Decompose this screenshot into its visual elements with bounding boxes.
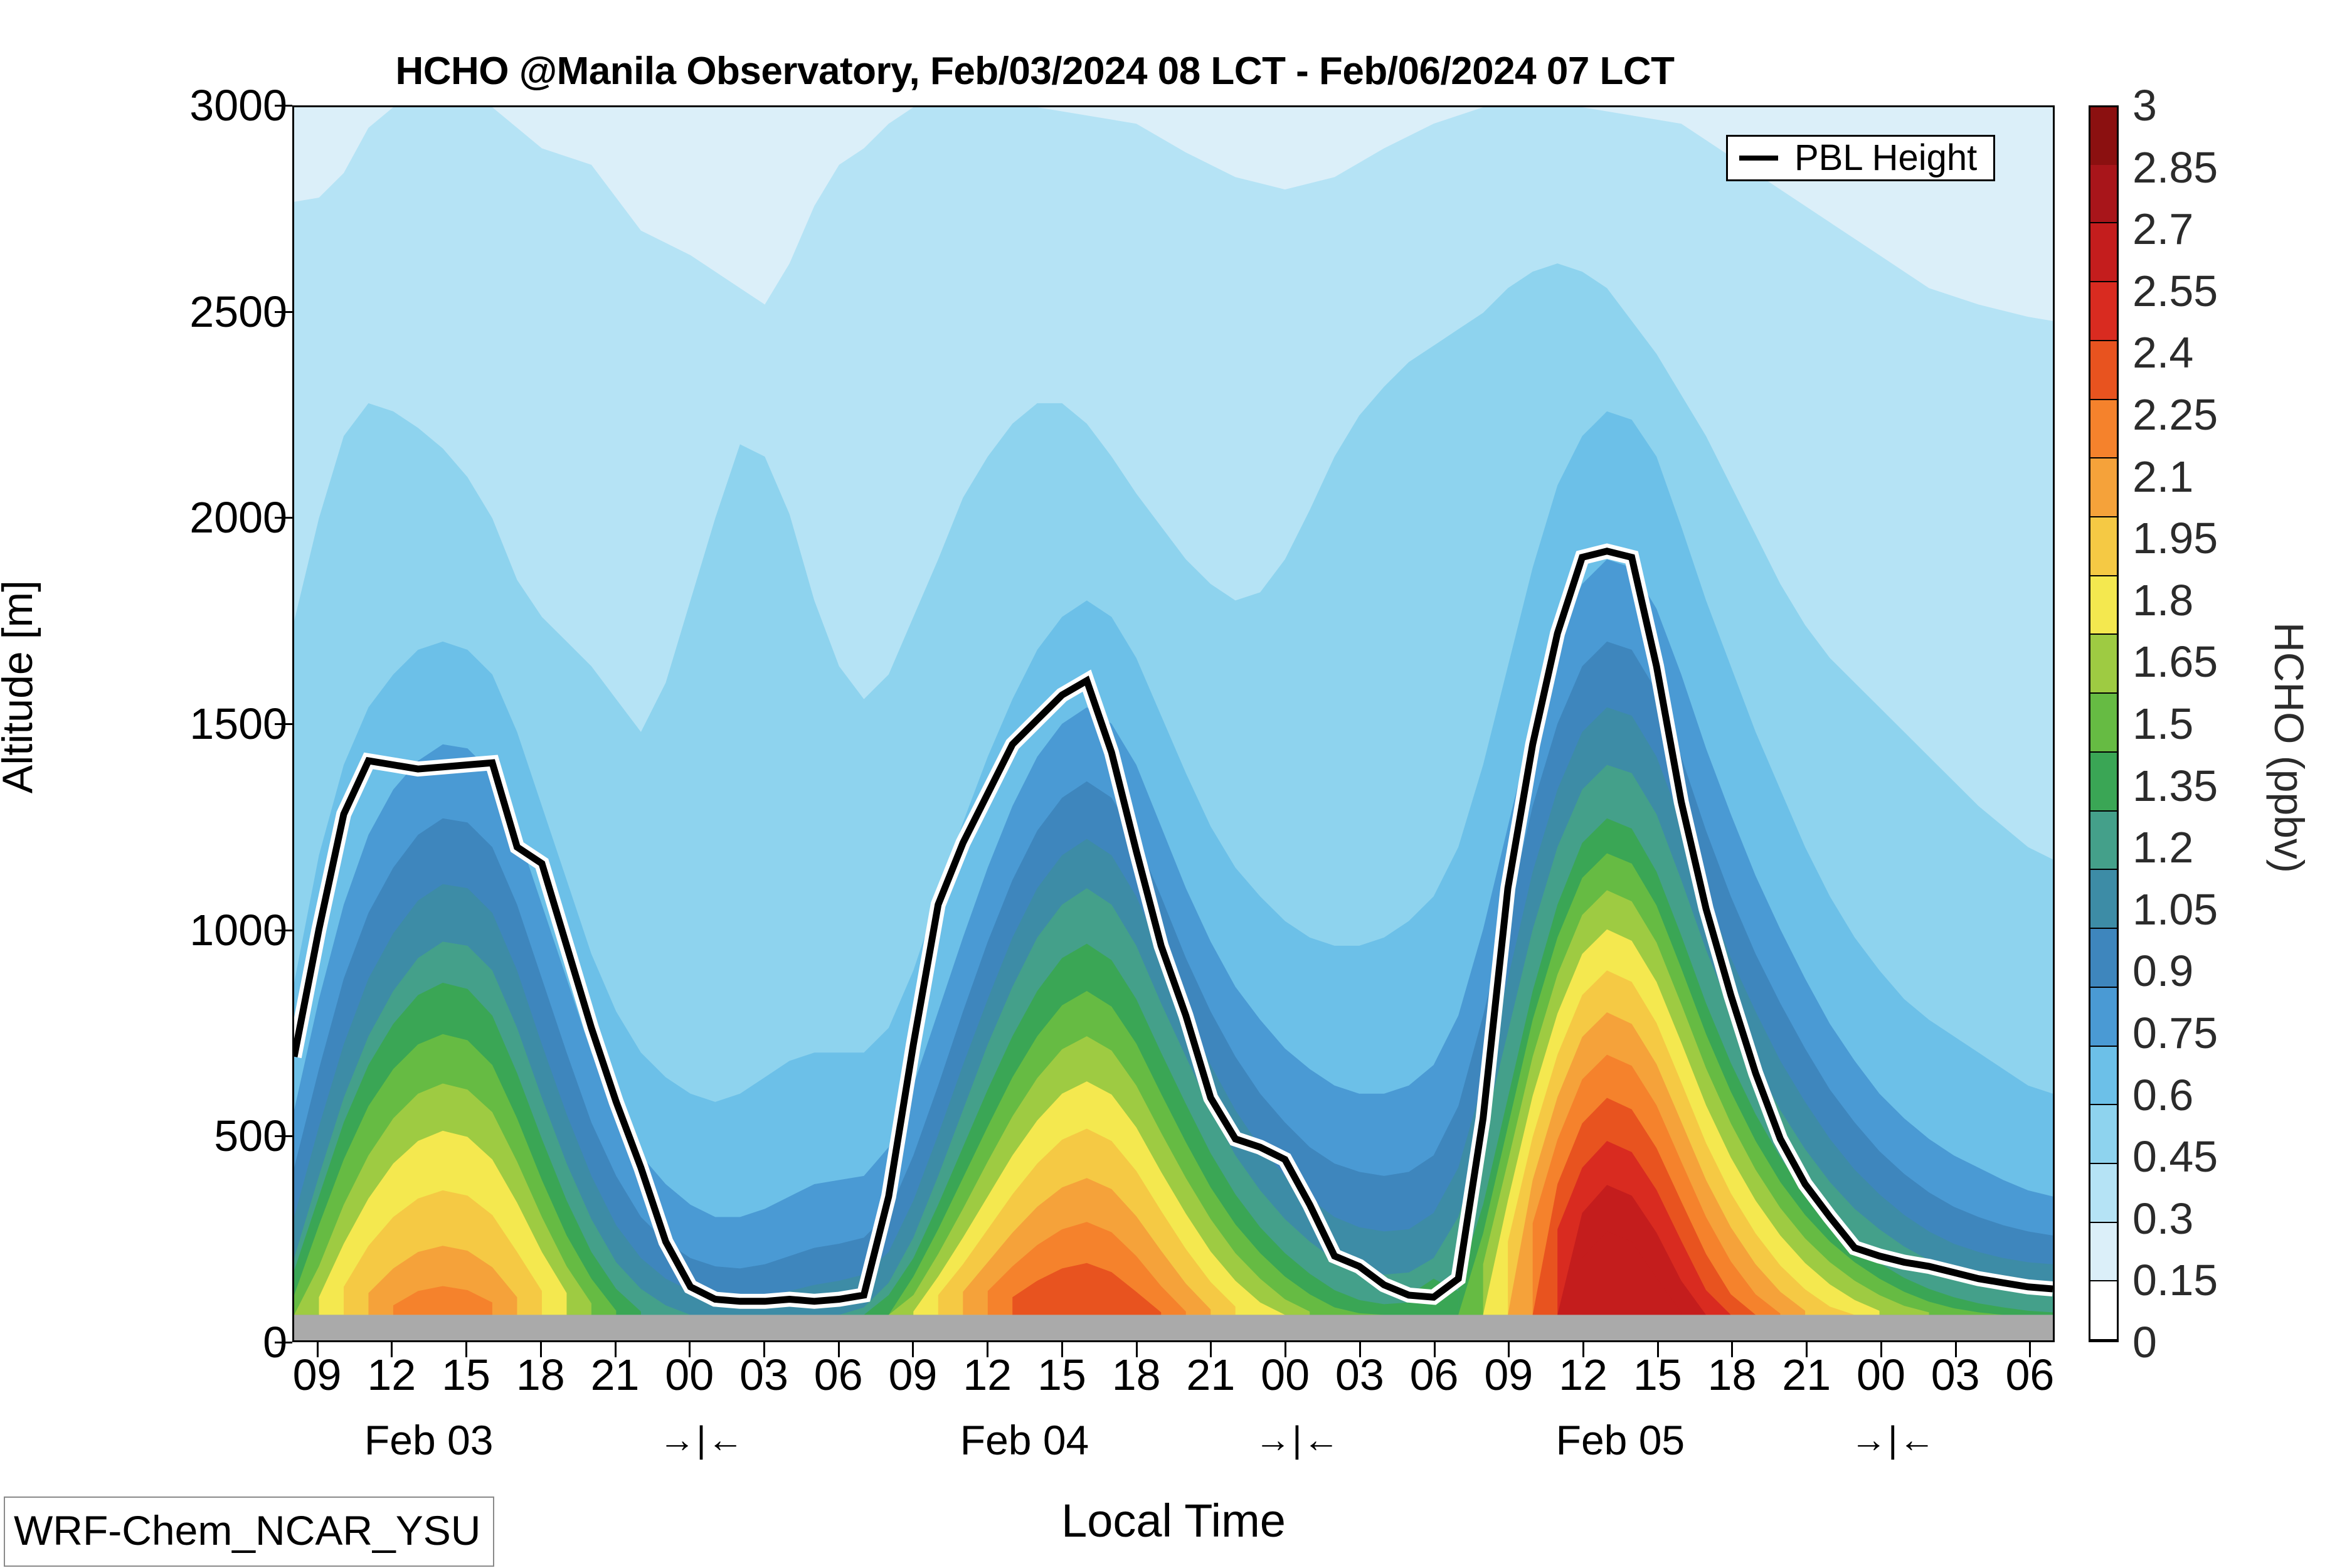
colorbar-cell xyxy=(2090,635,2117,694)
x-tick-label: 18 xyxy=(1708,1350,1757,1400)
x-tick-label: 06 xyxy=(1410,1350,1459,1400)
colorbar-cell xyxy=(2090,1105,2117,1164)
x-tick-mark xyxy=(1285,1342,1286,1357)
legend-line-swatch xyxy=(1739,156,1778,161)
terrain-surface xyxy=(294,1315,2053,1340)
colorbar-tick-label: 1.05 xyxy=(2132,884,2218,935)
x-tick-label: 03 xyxy=(1931,1350,1980,1400)
y-tick-label: 500 xyxy=(24,1111,287,1161)
x-tick-label: 03 xyxy=(1335,1350,1384,1400)
x-day-label: Feb 04 xyxy=(960,1416,1089,1464)
x-tick-label: 21 xyxy=(1782,1350,1831,1400)
colorbar-cell xyxy=(2090,400,2117,459)
x-day-separator: →|← xyxy=(659,1419,744,1461)
x-tick-label: 00 xyxy=(1261,1350,1310,1400)
colorbar-cell xyxy=(2090,812,2117,871)
colorbar-cell xyxy=(2090,223,2117,282)
x-tick-mark xyxy=(987,1342,988,1357)
x-tick-label: 00 xyxy=(1857,1350,1905,1400)
x-day-label: Feb 05 xyxy=(1556,1416,1685,1464)
x-tick-mark xyxy=(763,1342,765,1357)
colorbar-tick-label: 3 xyxy=(2132,80,2157,130)
colorbar-cell xyxy=(2090,1047,2117,1106)
x-tick-label: 09 xyxy=(1484,1350,1533,1400)
legend-item-label: PBL Height xyxy=(1794,140,1977,176)
y-tick-mark xyxy=(275,723,292,725)
colorbar-tick-label: 0.9 xyxy=(2132,946,2193,996)
x-tick-label: 03 xyxy=(739,1350,788,1400)
x-tick-label: 15 xyxy=(1633,1350,1682,1400)
colorbar-tick-label: 1.65 xyxy=(2132,637,2218,687)
x-tick-mark xyxy=(1210,1342,1212,1357)
colorbar-tick-label: 2.25 xyxy=(2132,389,2218,440)
colorbar-tick-label: 0.75 xyxy=(2132,1008,2218,1058)
x-tick-mark xyxy=(1582,1342,1584,1357)
colorbar-tick-label: 0.45 xyxy=(2132,1131,2218,1182)
colorbar-cell xyxy=(2090,458,2117,517)
x-day-label: Feb 03 xyxy=(364,1416,493,1464)
x-tick-label: 15 xyxy=(442,1350,490,1400)
y-tick-mark xyxy=(275,1342,292,1343)
y-tick-mark xyxy=(275,1135,292,1137)
colorbar-tick-label: 2.55 xyxy=(2132,266,2218,316)
x-tick-mark xyxy=(391,1342,393,1357)
colorbar-cell xyxy=(2090,107,2117,165)
y-tick-mark xyxy=(275,930,292,931)
colorbar-tick-label: 1.2 xyxy=(2132,822,2193,872)
x-axis-label: Local Time xyxy=(292,1494,2055,1547)
y-tick-mark xyxy=(275,517,292,519)
colorbar-cell xyxy=(2090,1223,2117,1282)
colorbar-tick-label: 1.95 xyxy=(2132,513,2218,563)
x-tick-label: 21 xyxy=(591,1350,640,1400)
y-tick-mark xyxy=(275,311,292,313)
colorbar-tick-label: 1.35 xyxy=(2132,761,2218,811)
colorbar-tick-label: 0 xyxy=(2132,1317,2157,1367)
y-tick-label: 2500 xyxy=(24,287,287,337)
y-tick-label: 1000 xyxy=(24,905,287,955)
colorbar-cell xyxy=(2090,1281,2117,1340)
model-tag: WRF-Chem_NCAR_YSU xyxy=(4,1496,494,1567)
x-tick-label: 15 xyxy=(1037,1350,1086,1400)
x-day-separator: →|← xyxy=(1850,1419,1936,1461)
y-tick-label: 1500 xyxy=(24,699,287,749)
x-tick-label: 12 xyxy=(367,1350,416,1400)
colorbar-tick-label: 2.4 xyxy=(2132,327,2193,378)
x-tick-mark xyxy=(1806,1342,1808,1357)
x-tick-label: 18 xyxy=(1112,1350,1161,1400)
colorbar-tick-label: 2.85 xyxy=(2132,142,2218,193)
colorbar-tick-label: 1.5 xyxy=(2132,699,2193,749)
x-tick-mark xyxy=(1731,1342,1733,1357)
x-tick-label: 09 xyxy=(293,1350,342,1400)
colorbar-cell xyxy=(2090,694,2117,753)
x-tick-mark xyxy=(465,1342,467,1357)
x-tick-mark xyxy=(1061,1342,1063,1357)
x-tick-mark xyxy=(689,1342,691,1357)
colorbar-cell xyxy=(2090,165,2117,224)
colorbar-tick-label: 0.6 xyxy=(2132,1070,2193,1120)
colorbar-tick-label: 0.3 xyxy=(2132,1194,2193,1244)
colorbar-cell xyxy=(2090,341,2117,400)
x-tick-label: 18 xyxy=(516,1350,565,1400)
y-tick-label: 2000 xyxy=(24,492,287,543)
colorbar-cell xyxy=(2090,1164,2117,1223)
x-tick-label: 06 xyxy=(814,1350,863,1400)
colorbar-cell xyxy=(2090,988,2117,1047)
x-tick-mark xyxy=(838,1342,840,1357)
colorbar-cell xyxy=(2090,517,2117,576)
contour-field xyxy=(294,107,2053,1340)
x-tick-mark xyxy=(317,1342,319,1357)
x-tick-label: 21 xyxy=(1186,1350,1235,1400)
x-tick-mark xyxy=(1434,1342,1436,1357)
colorbar-cell xyxy=(2090,929,2117,988)
legend[interactable]: PBL Height xyxy=(1726,135,1995,181)
x-tick-mark xyxy=(1955,1342,1957,1357)
colorbar-cell xyxy=(2090,870,2117,929)
x-tick-label: 12 xyxy=(963,1350,1012,1400)
colorbar-cell xyxy=(2090,576,2117,635)
x-tick-mark xyxy=(615,1342,617,1357)
colorbar[interactable] xyxy=(2089,105,2119,1342)
x-tick-label: 09 xyxy=(888,1350,937,1400)
colorbar-cell xyxy=(2090,282,2117,341)
colorbar-axis-label: HCHO (ppbv) xyxy=(2265,403,2313,1093)
x-tick-mark xyxy=(1657,1342,1659,1357)
x-tick-mark xyxy=(540,1342,542,1357)
colorbar-tick-label: 1.8 xyxy=(2132,575,2193,625)
x-tick-mark xyxy=(1136,1342,1138,1357)
x-tick-label: 06 xyxy=(2005,1350,2054,1400)
x-tick-mark xyxy=(1880,1342,1882,1357)
x-tick-mark xyxy=(912,1342,914,1357)
x-tick-mark xyxy=(2029,1342,2031,1357)
x-tick-mark xyxy=(1359,1342,1361,1357)
contour-plot-canvas[interactable] xyxy=(292,105,2055,1342)
colorbar-tick-label: 2.1 xyxy=(2132,452,2193,502)
x-tick-mark xyxy=(1508,1342,1510,1357)
colorbar-tick-label: 2.7 xyxy=(2132,204,2193,254)
x-tick-label: 00 xyxy=(665,1350,714,1400)
page-title: HCHO @Manila Observatory, Feb/03/2024 08… xyxy=(0,49,2070,93)
y-tick-label: 0 xyxy=(24,1317,287,1367)
colorbar-tick-label: 0.15 xyxy=(2132,1255,2218,1305)
x-tick-label: 12 xyxy=(1559,1350,1608,1400)
y-tick-label: 3000 xyxy=(24,80,287,130)
colorbar-cell xyxy=(2090,753,2117,812)
y-tick-mark xyxy=(275,105,292,107)
x-day-separator: →|← xyxy=(1254,1419,1340,1461)
